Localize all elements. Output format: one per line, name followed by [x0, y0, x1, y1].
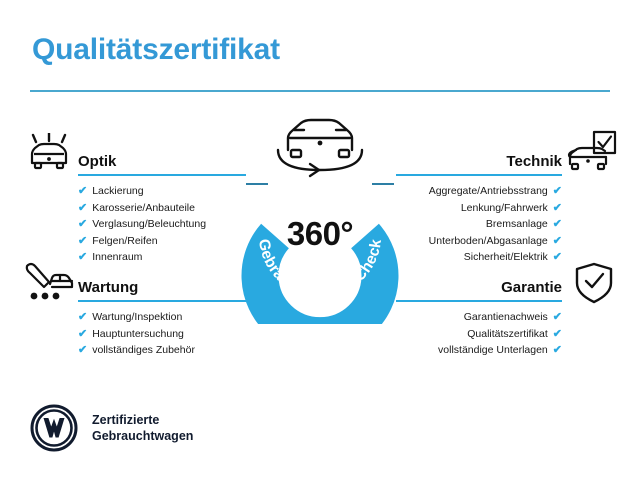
list-item-label: Karosserie/Anbauteile — [92, 200, 195, 217]
checklist-optik: ✔Lackierung ✔Karosserie/Anbauteile ✔Verg… — [78, 183, 246, 266]
car-shine-icon — [24, 133, 74, 180]
list-item: Bremsanlage✔ — [396, 216, 562, 233]
section-title-optik: Optik — [78, 153, 116, 170]
list-item-label: Lackierung — [92, 183, 143, 200]
check-icon: ✔ — [78, 183, 87, 200]
list-item: Garantienachweis✔ — [396, 309, 562, 326]
check-icon: ✔ — [553, 309, 562, 326]
section-rule-wartung — [78, 300, 246, 302]
check-icon: ✔ — [553, 200, 562, 217]
section-rule-garantie — [396, 300, 562, 302]
certificate-page: Qualitätszertifikat — [0, 0, 640, 480]
list-item: ✔Innenraum — [78, 249, 246, 266]
list-item: Lenkung/Fahrwerk✔ — [396, 200, 562, 217]
vw-logo — [30, 404, 78, 452]
section-title-technik: Technik — [506, 153, 562, 170]
badge-degrees: 360° — [215, 215, 425, 253]
header-divider — [30, 90, 610, 92]
list-item-label: Felgen/Reifen — [92, 233, 157, 250]
checklist-technik: Aggregate/Antriebsstrang✔ Lenkung/Fahrwe… — [396, 183, 562, 266]
list-item-label: Unterboden/Abgasanlage — [429, 233, 548, 250]
checklist-garantie: Garantienachweis✔ Qualitätszertifikat✔ v… — [396, 309, 562, 359]
list-item-label: Aggregate/Antriebsstrang — [429, 183, 548, 200]
list-item-label: vollständiges Zubehör — [92, 342, 195, 359]
list-item: ✔Lackierung — [78, 183, 246, 200]
list-item: ✔Karosserie/Anbauteile — [78, 200, 246, 217]
list-item-label: Garantienachweis — [464, 309, 548, 326]
section-title-wartung: Wartung — [78, 279, 138, 296]
shield-check-icon — [572, 261, 616, 310]
list-item: Qualitätszertifikat✔ — [396, 326, 562, 343]
check-icon: ✔ — [553, 183, 562, 200]
check-icon: ✔ — [78, 309, 87, 326]
check-icon: ✔ — [78, 216, 87, 233]
list-item: Aggregate/Antriebsstrang✔ — [396, 183, 562, 200]
section-rule-optik — [78, 174, 246, 176]
footer-branding: Zertifizierte Gebrauchtwagen — [30, 404, 193, 452]
list-item-label: Innenraum — [92, 249, 142, 266]
list-item: ✔vollständiges Zubehör — [78, 342, 246, 359]
check-icon: ✔ — [553, 216, 562, 233]
section-wartung: Wartung ✔Wartung/Inspektion ✔Hauptunters… — [78, 272, 246, 359]
section-title-garantie: Garantie — [501, 279, 562, 296]
section-header-wartung: Wartung — [78, 272, 246, 302]
list-item-label: Lenkung/Fahrwerk — [461, 200, 548, 217]
list-item: ✔Hauptuntersuchung — [78, 326, 246, 343]
list-item-label: Hauptuntersuchung — [92, 326, 184, 343]
list-item: ✔Verglasung/Beleuchtung — [78, 216, 246, 233]
check-icon: ✔ — [553, 326, 562, 343]
section-technik: Technik Aggregate/Antriebsstrang✔ Lenkun… — [396, 146, 562, 266]
list-item-label: Qualitätszertifikat — [467, 326, 548, 343]
list-item: ✔Felgen/Reifen — [78, 233, 246, 250]
footer-line-1: Zertifizierte — [92, 412, 193, 428]
page-title: Qualitätszertifikat — [32, 33, 280, 67]
section-header-optik: Optik — [78, 146, 246, 176]
list-item-label: Bremsanlage — [486, 216, 548, 233]
check-icon: ✔ — [78, 342, 87, 359]
list-item-label: vollständige Unterlagen — [438, 342, 548, 359]
section-garantie: Garantie Garantienachweis✔ Qualitätszert… — [396, 272, 562, 359]
wrench-car-service-icon — [22, 261, 76, 308]
list-item-label: Sicherheit/Elektrik — [464, 249, 548, 266]
footer-text: Zertifizierte Gebrauchtwagen — [92, 412, 193, 444]
check-icon: ✔ — [78, 233, 87, 250]
check-icon: ✔ — [553, 233, 562, 250]
list-item: ✔Wartung/Inspektion — [78, 309, 246, 326]
check-icon: ✔ — [78, 326, 87, 343]
badge-360-gebrauchtwagen-check: Gebrauchtwagen-Check 360° — [215, 108, 425, 324]
footer-line-2: Gebrauchtwagen — [92, 428, 193, 444]
list-item-label: Wartung/Inspektion — [92, 309, 182, 326]
list-item: vollständige Unterlagen✔ — [396, 342, 562, 359]
car-checkbox-icon — [566, 130, 618, 179]
section-rule-technik — [396, 174, 562, 176]
check-icon: ✔ — [553, 249, 562, 266]
check-icon: ✔ — [78, 249, 87, 266]
section-optik: Optik ✔Lackierung ✔Karosserie/Anbauteile… — [78, 146, 246, 266]
check-icon: ✔ — [553, 342, 562, 359]
section-header-garantie: Garantie — [396, 272, 562, 302]
check-icon: ✔ — [78, 200, 87, 217]
checklist-wartung: ✔Wartung/Inspektion ✔Hauptuntersuchung ✔… — [78, 309, 246, 359]
list-item: Unterboden/Abgasanlage✔ — [396, 233, 562, 250]
section-header-technik: Technik — [396, 146, 562, 176]
list-item-label: Verglasung/Beleuchtung — [92, 216, 206, 233]
list-item: Sicherheit/Elektrik✔ — [396, 249, 562, 266]
